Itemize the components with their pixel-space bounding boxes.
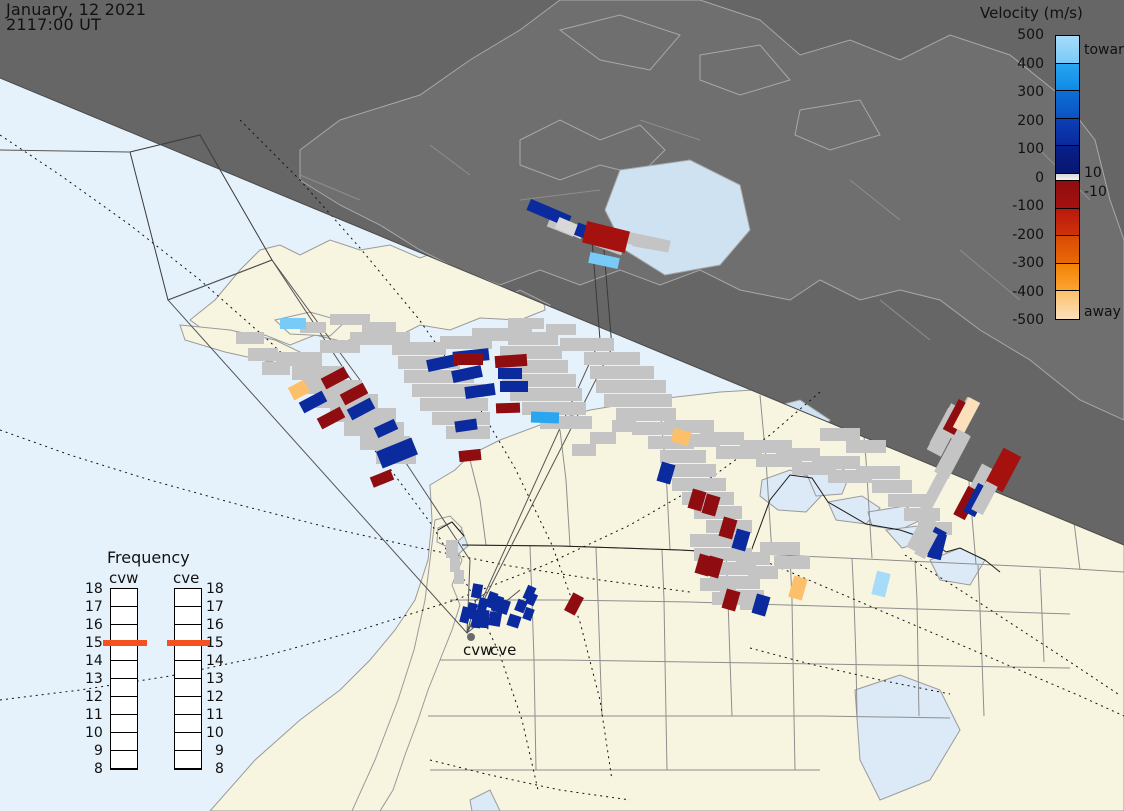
station-markers-layer: cvwcve	[0, 0, 1124, 811]
station-label-cve: cve	[490, 641, 516, 659]
radar-velocity-map: January, 12 2021 2117:00 UT Velocity (m/…	[0, 0, 1124, 811]
station-label-cvw: cvw	[463, 641, 492, 659]
station-dot-cvw	[467, 633, 475, 641]
